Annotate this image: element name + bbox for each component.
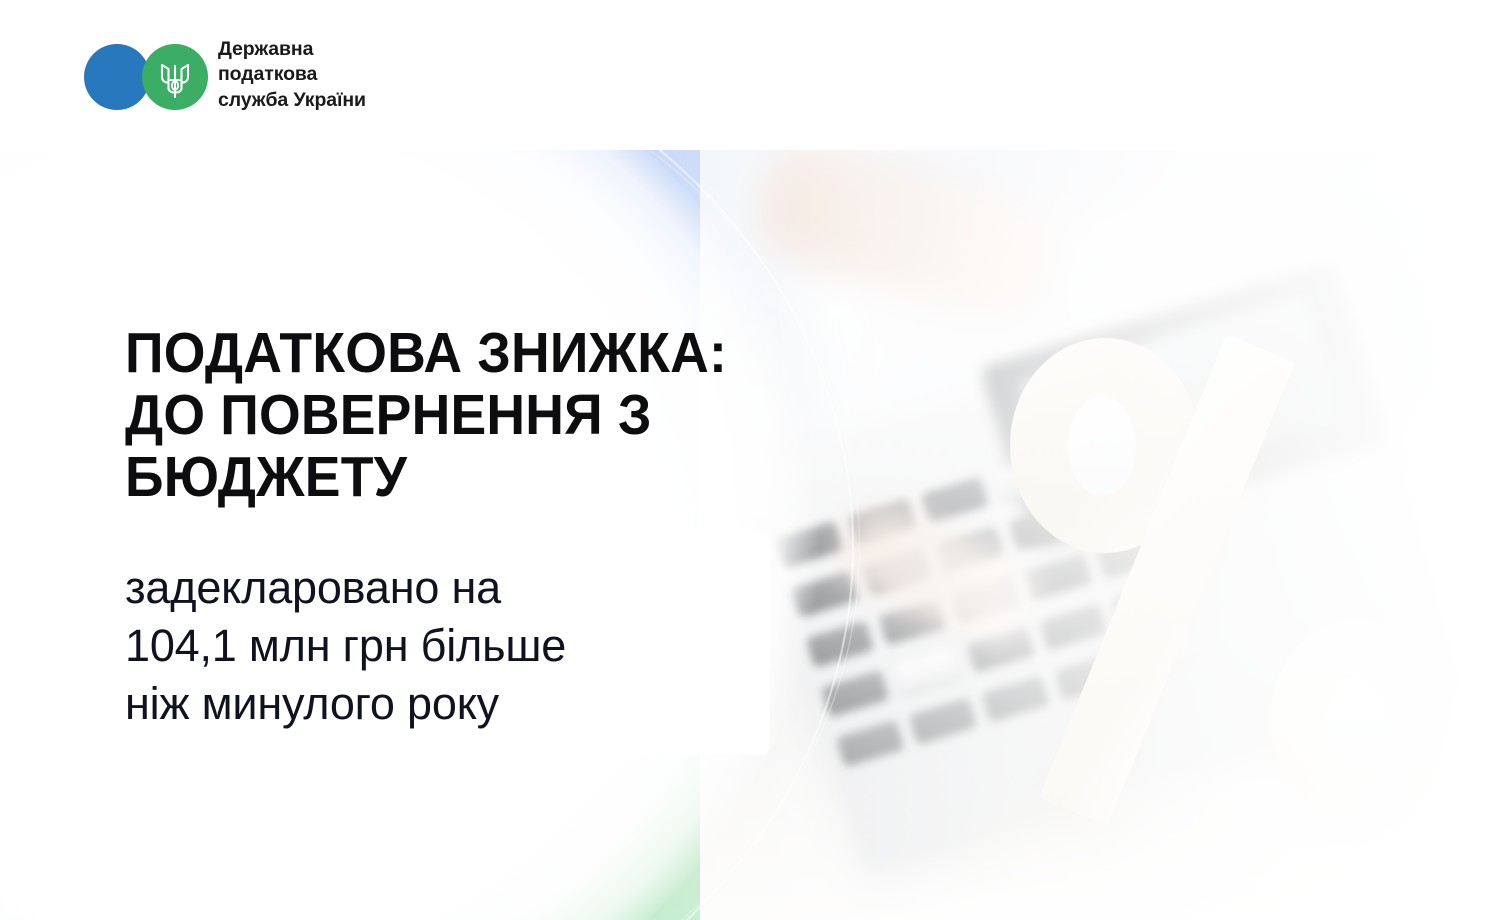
main-canvas: ПОДАТКОВА ЗНИЖКА: ДО ПОВЕРНЕННЯ З БЮДЖЕТ… <box>0 150 1500 920</box>
headline-line-3: БЮДЖЕТУ <box>125 446 868 508</box>
subtitle-line-2: 104,1 млн грн більше <box>125 617 765 675</box>
subtitle-line-3: ніж минулого року <box>125 675 765 733</box>
headline-line-2: ДО ПОВЕРНЕННЯ З <box>125 384 868 446</box>
subtitle-line-1: задекларовано на <box>125 559 765 617</box>
logo-text-line-1: Державна <box>218 37 366 62</box>
page-title: ПОДАТКОВА ЗНИЖКА: ДО ПОВЕРНЕННЯ З БЮДЖЕТ… <box>125 322 868 508</box>
logo-text-line-3: служба України <box>218 88 366 113</box>
logo-marks <box>70 40 210 110</box>
subtitle-text: задекларовано на 104,1 млн грн більше ні… <box>125 559 765 733</box>
headline-line-1: ПОДАТКОВА ЗНИЖКА: <box>125 322 868 384</box>
text-layer: ПОДАТКОВА ЗНИЖКА: ДО ПОВЕРНЕННЯ З БЮДЖЕТ… <box>0 150 1500 920</box>
organization-logo[interactable]: Державна податкова служба України <box>70 30 366 120</box>
ukraine-trident-icon <box>158 60 192 98</box>
logo-text-line-2: податкова <box>218 62 366 87</box>
header-band: Державна податкова служба України <box>0 0 1500 150</box>
poster-canvas: Державна податкова служба України <box>0 0 1500 920</box>
logo-blue-circle-icon <box>84 44 150 110</box>
logo-text: Державна податкова служба України <box>218 37 366 113</box>
subtitle-panel: задекларовано на 104,1 млн грн більше ні… <box>90 533 770 755</box>
